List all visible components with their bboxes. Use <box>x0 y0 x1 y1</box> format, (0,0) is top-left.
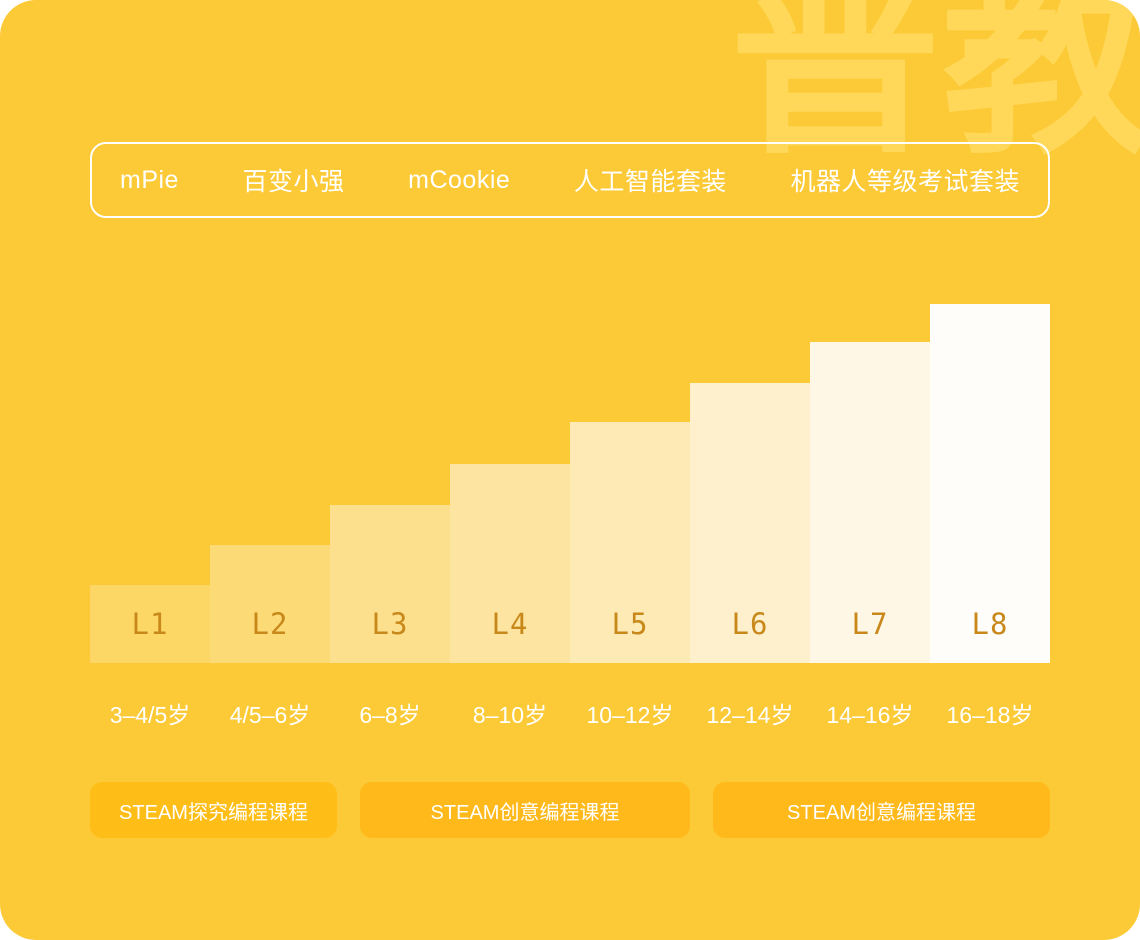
course-pill-row: STEAM探究编程课程 STEAM创意编程课程 STEAM创意编程课程 <box>90 782 1050 838</box>
bar-label-l5: L5 <box>612 607 649 641</box>
bar-l6: L6 <box>690 383 810 663</box>
age-label-l6: 12–14岁 <box>690 696 810 730</box>
course-pill-creative-1[interactable]: STEAM创意编程课程 <box>360 782 690 838</box>
age-range-row: 3–4/5岁 4/5–6岁 6–8岁 8–10岁 10–12岁 12–14岁 1… <box>90 696 1050 730</box>
level-bar-chart: L1 L2 L3 L4 L5 L6 L7 L8 <box>90 290 1050 663</box>
age-label-l5: 10–12岁 <box>570 696 690 730</box>
age-label-l4: 8–10岁 <box>450 696 570 730</box>
bar-l5: L5 <box>570 422 690 663</box>
course-level-card: 普教 mPie 百变小强 mCookie 人工智能套装 机器人等级考试套装 L1… <box>0 0 1140 940</box>
bar-label-l7: L7 <box>852 607 889 641</box>
bar-l8: L8 <box>930 304 1050 663</box>
age-label-l8: 16–18岁 <box>930 696 1050 730</box>
product-tag-bar: mPie 百变小强 mCookie 人工智能套装 机器人等级考试套装 <box>90 142 1050 218</box>
tag-robot-exam-kit[interactable]: 机器人等级考试套装 <box>790 162 1020 198</box>
bar-l3: L3 <box>330 505 450 663</box>
bar-l2: L2 <box>210 545 330 663</box>
age-label-l2: 4/5–6岁 <box>210 696 330 730</box>
tag-mcookie[interactable]: mCookie <box>408 166 510 195</box>
course-pill-explore[interactable]: STEAM探究编程课程 <box>90 782 337 838</box>
bar-label-l6: L6 <box>732 607 769 641</box>
bar-l1: L1 <box>90 585 210 663</box>
bar-label-l8: L8 <box>972 607 1009 641</box>
course-pill-creative-2[interactable]: STEAM创意编程课程 <box>713 782 1050 838</box>
bar-l4: L4 <box>450 464 570 663</box>
tag-ai-kit[interactable]: 人工智能套装 <box>574 162 727 198</box>
bar-label-l3: L3 <box>372 607 409 641</box>
age-label-l1: 3–4/5岁 <box>90 696 210 730</box>
bar-label-l2: L2 <box>252 607 289 641</box>
bar-label-l4: L4 <box>492 607 529 641</box>
bar-label-l1: L1 <box>132 607 169 641</box>
tag-baibianxiaoqiang[interactable]: 百变小强 <box>243 162 345 198</box>
age-label-l3: 6–8岁 <box>330 696 450 730</box>
tag-mpie[interactable]: mPie <box>120 166 179 195</box>
bar-l7: L7 <box>810 342 930 663</box>
age-label-l7: 14–16岁 <box>810 696 930 730</box>
